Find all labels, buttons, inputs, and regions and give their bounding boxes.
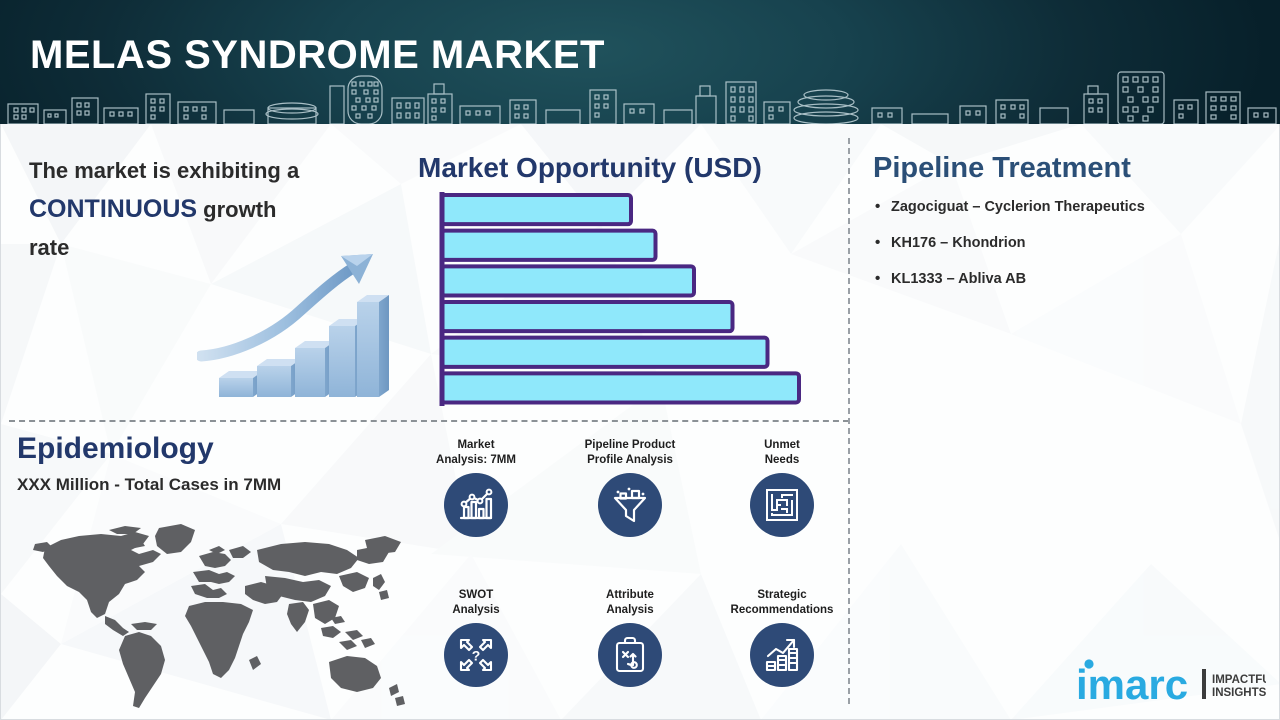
list-item: • KH176 – Khondrion xyxy=(875,234,1265,252)
slide-root: MELAS SYNDROME MARKET xyxy=(0,0,1280,720)
growth-line-3: rate xyxy=(29,235,69,260)
epidemiology-title: Epidemiology xyxy=(17,432,214,466)
divider-vertical xyxy=(848,138,850,704)
logo-divider xyxy=(1202,669,1206,699)
epidemiology-subtitle: XXX Million - Total Cases in 7MM xyxy=(17,475,281,495)
pipeline-item-label: Zagociguat – Cyclerion Therapeutics xyxy=(891,198,1145,216)
divider-horizontal xyxy=(9,420,849,422)
icon-cell-strategic-recommendations[interactable]: Strategic Recommendations xyxy=(707,588,857,687)
pipeline-item-label: KH176 – Khondrion xyxy=(891,234,1026,252)
growth-highlight: CONTINUOUS xyxy=(29,195,197,223)
icon-cell-attribute-analysis[interactable]: Attribute Analysis xyxy=(555,588,705,687)
header-banner: MELAS SYNDROME MARKET xyxy=(0,0,1280,124)
chart-bar xyxy=(442,266,694,295)
pipeline-treatment-list: • Zagociguat – Cyclerion Therapeutics • … xyxy=(875,198,1265,306)
logo-tagline-line1: IMPACTFUL xyxy=(1212,674,1266,686)
chart-bar xyxy=(442,195,631,224)
pipeline-treatment-title: Pipeline Treatment xyxy=(873,152,1131,185)
icon-label: Pipeline Product Profile Analysis xyxy=(555,438,705,467)
bullet-icon: • xyxy=(875,198,891,216)
icon-label: Unmet Needs xyxy=(707,438,857,467)
chart-bar xyxy=(442,338,768,367)
market-opportunity-bar-chart xyxy=(433,192,833,406)
bullet-icon: • xyxy=(875,270,891,288)
maze-icon[interactable] xyxy=(750,473,814,537)
funnel-icon[interactable] xyxy=(598,473,662,537)
growth-bar-chart-icon xyxy=(197,252,389,404)
list-item: • KL1333 – Abliva AB xyxy=(875,270,1265,288)
bullet-icon: • xyxy=(875,234,891,252)
icon-cell-unmet-needs[interactable]: Unmet Needs xyxy=(707,438,857,537)
growth-statement: The market is exhibiting a CONTINUOUS gr… xyxy=(29,152,379,267)
logo-wordmark: imarc xyxy=(1076,661,1188,707)
icon-label: Attribute Analysis xyxy=(555,588,705,617)
icon-cell-pipeline-product-profile[interactable]: Pipeline Product Profile Analysis xyxy=(555,438,705,537)
imarc-logo: imarc IMPACTFUL INSIGHTS xyxy=(1076,655,1266,707)
page-title: MELAS SYNDROME MARKET xyxy=(30,33,605,78)
chart-bar xyxy=(442,231,656,260)
list-item: • Zagociguat – Cyclerion Therapeutics xyxy=(875,198,1265,216)
market-opportunity-title: Market Opportunity (USD) xyxy=(418,152,762,184)
icon-cell-swot-analysis[interactable]: SWOT Analysis ? xyxy=(401,588,551,687)
icon-label: SWOT Analysis xyxy=(401,588,551,617)
four-arrows-question-icon[interactable]: ? xyxy=(444,623,508,687)
icon-label: Market Analysis: 7MM xyxy=(401,438,551,467)
icon-cell-market-analysis[interactable]: Market Analysis: 7MM xyxy=(401,438,551,537)
svg-text:?: ? xyxy=(472,648,481,664)
world-map-icon xyxy=(13,520,413,712)
growth-line-1: The market is exhibiting a xyxy=(29,158,299,183)
growth-bars-arrow-icon[interactable] xyxy=(750,623,814,687)
pipeline-item-label: KL1333 – Abliva AB xyxy=(891,270,1026,288)
logo-tagline-line2: INSIGHTS xyxy=(1212,687,1266,699)
analysis-icon-grid: Market Analysis: 7MM xyxy=(415,438,851,710)
bar-chart-line-icon[interactable] xyxy=(444,473,508,537)
chart-bar xyxy=(442,302,733,331)
growth-line-2-tail: growth xyxy=(197,197,276,222)
chart-bar xyxy=(442,373,799,402)
content-area: The market is exhibiting a CONTINUOUS gr… xyxy=(0,124,1280,720)
icon-label: Strategic Recommendations xyxy=(707,588,857,617)
clipboard-strategy-icon[interactable] xyxy=(598,623,662,687)
